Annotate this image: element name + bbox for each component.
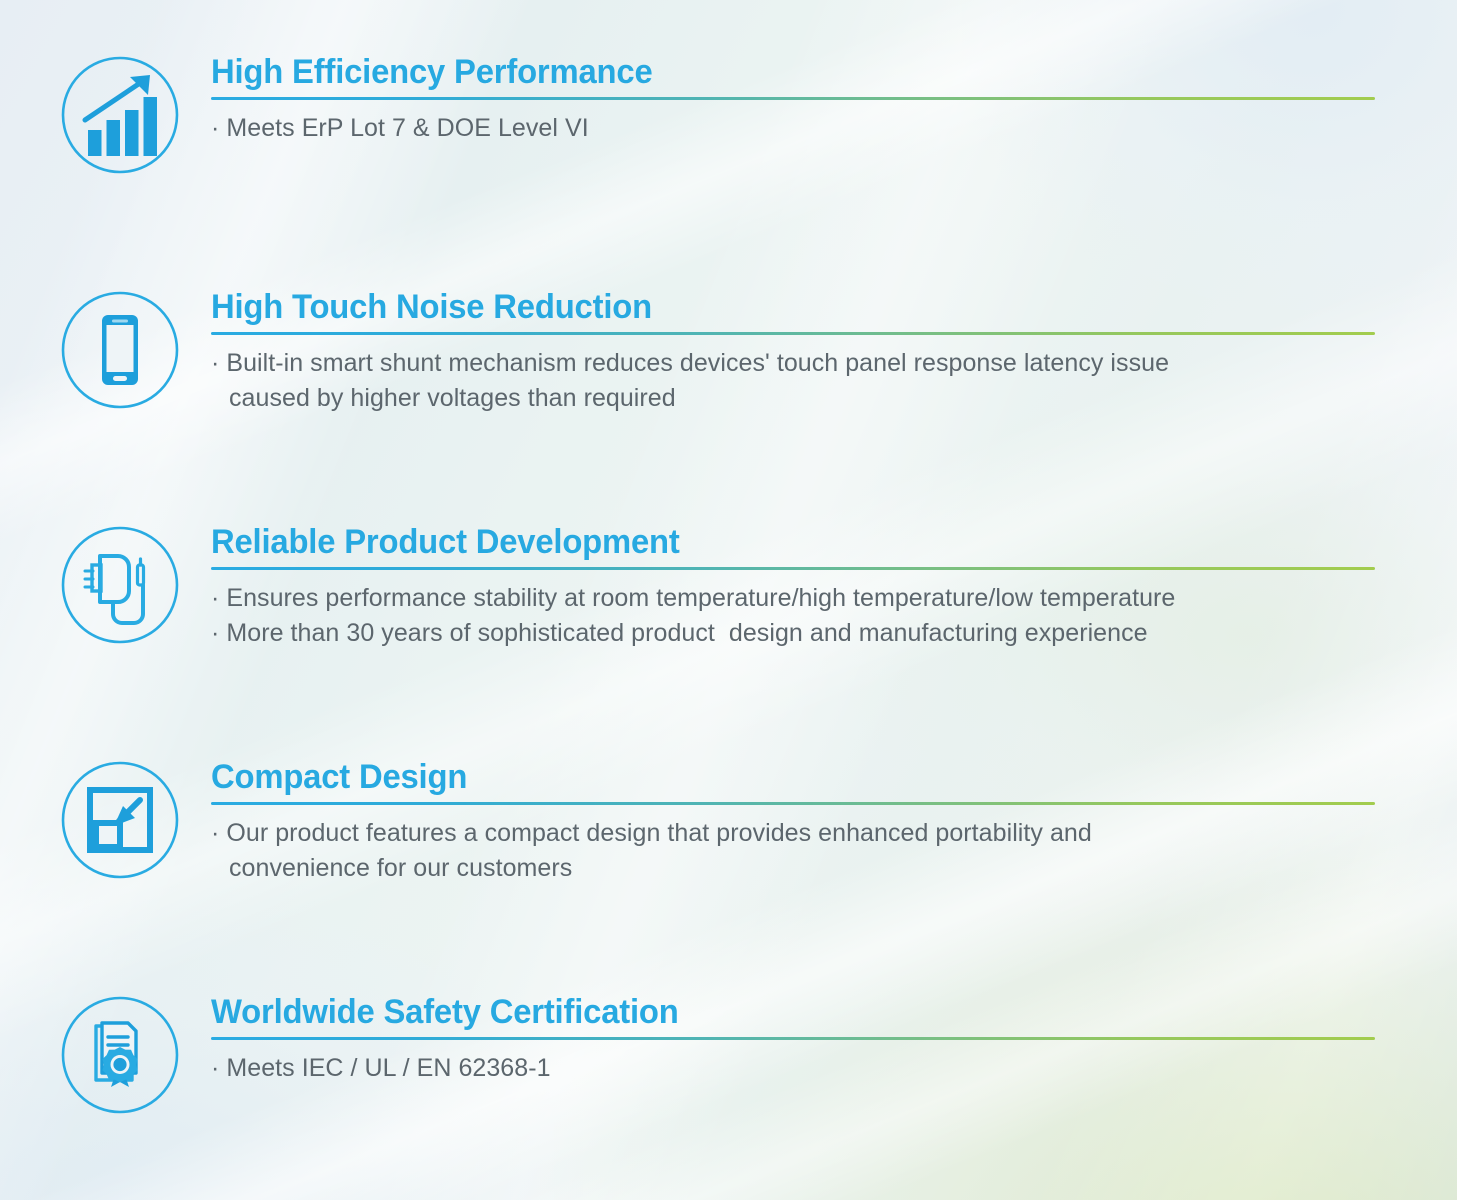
- feature-body: Compact Design · Our product features a …: [211, 758, 1375, 885]
- feature-title: High Efficiency Performance: [211, 53, 1334, 91]
- feature-description: · Ensures performance stability at room …: [211, 581, 1375, 650]
- feature-description: · Meets ErP Lot 7 & DOE Level VI: [211, 111, 1375, 146]
- feature-line: · Our product features a compact design …: [211, 816, 1375, 851]
- feature-line: · Ensures performance stability at room …: [211, 581, 1375, 616]
- feature-description: · Our product features a compact design …: [211, 816, 1375, 885]
- feature-line: convenience for our customers: [211, 851, 1375, 886]
- feature-title: High Touch Noise Reduction: [211, 288, 1334, 326]
- certificate-award-icon: [58, 993, 182, 1117]
- feature-title: Compact Design: [211, 758, 1334, 796]
- feature-description: · Meets IEC / UL / EN 62368-1: [211, 1051, 1375, 1086]
- feature-description: · Built-in smart shunt mechanism reduces…: [211, 346, 1375, 415]
- feature-line: caused by higher voltages than required: [211, 381, 1375, 416]
- bar-chart-growth-icon: [58, 53, 182, 177]
- feature-title: Reliable Product Development: [211, 523, 1334, 561]
- feature-body: Worldwide Safety Certification · Meets I…: [211, 993, 1375, 1086]
- feature-list-page: High Efficiency Performance · Meets ErP …: [0, 0, 1457, 1200]
- feature-line: · Built-in smart shunt mechanism reduces…: [211, 346, 1375, 381]
- feature-body: Reliable Product Development · Ensures p…: [211, 523, 1375, 650]
- feature-line: · More than 30 years of sophisticated pr…: [211, 616, 1375, 651]
- feature-body: High Touch Noise Reduction · Built-in sm…: [211, 288, 1375, 415]
- feature-line: · Meets IEC / UL / EN 62368-1: [211, 1051, 1375, 1086]
- feature-body: High Efficiency Performance · Meets ErP …: [211, 53, 1375, 146]
- compact-resize-icon: [58, 758, 182, 882]
- feature-divider: [211, 802, 1375, 805]
- feature-title: Worldwide Safety Certification: [211, 993, 1334, 1031]
- feature-divider: [211, 332, 1375, 335]
- feature-divider: [211, 1037, 1375, 1040]
- smartphone-icon: [58, 288, 182, 412]
- feature-divider: [211, 567, 1375, 570]
- feature-line: · Meets ErP Lot 7 & DOE Level VI: [211, 111, 1375, 146]
- feature-divider: [211, 97, 1375, 100]
- power-adapter-icon: [58, 523, 182, 647]
